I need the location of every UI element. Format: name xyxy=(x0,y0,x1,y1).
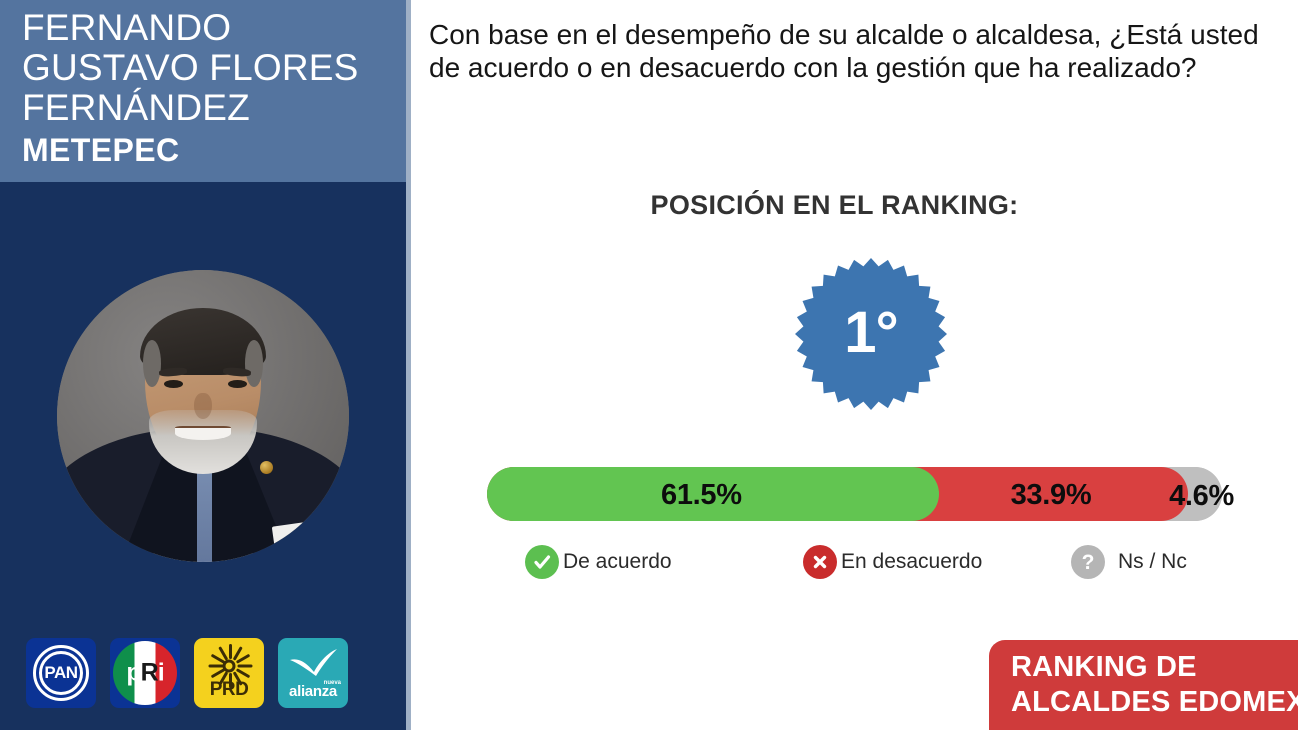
avatar-nose xyxy=(194,393,212,419)
legend-label-nsnc: Ns / Nc xyxy=(1118,550,1187,574)
avatar-eye-right xyxy=(228,380,247,388)
candidate-name-line-2: GUSTAVO FLORES xyxy=(22,48,406,88)
cross-icon xyxy=(803,545,837,579)
pri-label: pRi xyxy=(113,659,177,688)
legend-label-agree: De acuerdo xyxy=(563,550,672,574)
candidate-panel: FERNANDO GUSTAVO FLORES FERNÁNDEZ METEPE… xyxy=(0,0,406,730)
legend-item-disagree: En desacuerdo xyxy=(803,545,982,579)
party-logo-row: PAN pRi xyxy=(26,638,348,708)
avatar-temple-left xyxy=(143,340,161,387)
party-logo-prd[interactable]: PRD xyxy=(194,638,264,708)
alianza-swoosh-icon xyxy=(287,647,339,677)
question-icon: ? xyxy=(1071,545,1105,579)
avatar-eye-left xyxy=(164,380,183,388)
bar-label-agree: 61.5% xyxy=(661,479,742,512)
pri-letter-i: i xyxy=(158,659,164,687)
content-area: Con base en el desempeño de su alcalde o… xyxy=(411,0,1298,730)
candidate-name-line-3: FERNÁNDEZ xyxy=(22,88,406,128)
pan-label: PAN xyxy=(26,663,96,683)
avatar-temple-right xyxy=(245,340,263,387)
prd-sun-icon xyxy=(214,651,244,681)
ranking-position-value: 1° xyxy=(795,258,947,410)
program-banner: RANKING DE ALCALDES EDOMEX xyxy=(989,640,1298,730)
results-stacked-bar: 61.5% 33.9% 4.6% xyxy=(487,467,1222,521)
question-glyph: ? xyxy=(1082,552,1095,573)
candidate-municipality: METEPEC xyxy=(22,130,406,170)
party-logo-nueva-alianza[interactable]: nueva alianza xyxy=(278,638,348,708)
party-logo-pan[interactable]: PAN xyxy=(26,638,96,708)
pri-letter-p: p xyxy=(126,659,140,687)
candidate-name-line-1: FERNANDO xyxy=(22,8,406,48)
candidate-name-band: FERNANDO GUSTAVO FLORES FERNÁNDEZ METEPE… xyxy=(0,0,406,182)
ranking-infographic: FERNANDO GUSTAVO FLORES FERNÁNDEZ METEPE… xyxy=(0,0,1298,730)
bar-label-disagree: 33.9% xyxy=(1011,479,1092,512)
pri-letter-r: R xyxy=(141,659,158,687)
legend-item-nsnc: ? Ns / Nc xyxy=(1071,545,1187,579)
legend-label-disagree: En desacuerdo xyxy=(841,550,982,574)
survey-question: Con base en el desempeño de su alcalde o… xyxy=(429,18,1269,84)
candidate-photo-band: PAN pRi xyxy=(0,182,406,730)
candidate-avatar xyxy=(57,270,349,562)
prd-label: PRD xyxy=(194,679,264,701)
check-icon xyxy=(525,545,559,579)
avatar-mouth xyxy=(175,426,230,439)
pri-flag-circle-icon: pRi xyxy=(113,641,177,705)
ranking-badge: 1° xyxy=(795,258,947,410)
legend-item-agree: De acuerdo xyxy=(525,545,672,579)
ranking-heading: POSICIÓN EN EL RANKING: xyxy=(411,190,1298,221)
banner-line-2: ALCALDES EDOMEX xyxy=(1011,685,1298,720)
bar-label-nsnc: 4.6% xyxy=(1169,480,1234,513)
alianza-label: alianza xyxy=(278,683,348,700)
results-legend: De acuerdo En desacuerdo ? Ns / Nc xyxy=(487,545,1222,585)
banner-line-1: RANKING DE xyxy=(1011,650,1298,685)
party-logo-pri[interactable]: pRi xyxy=(110,638,180,708)
